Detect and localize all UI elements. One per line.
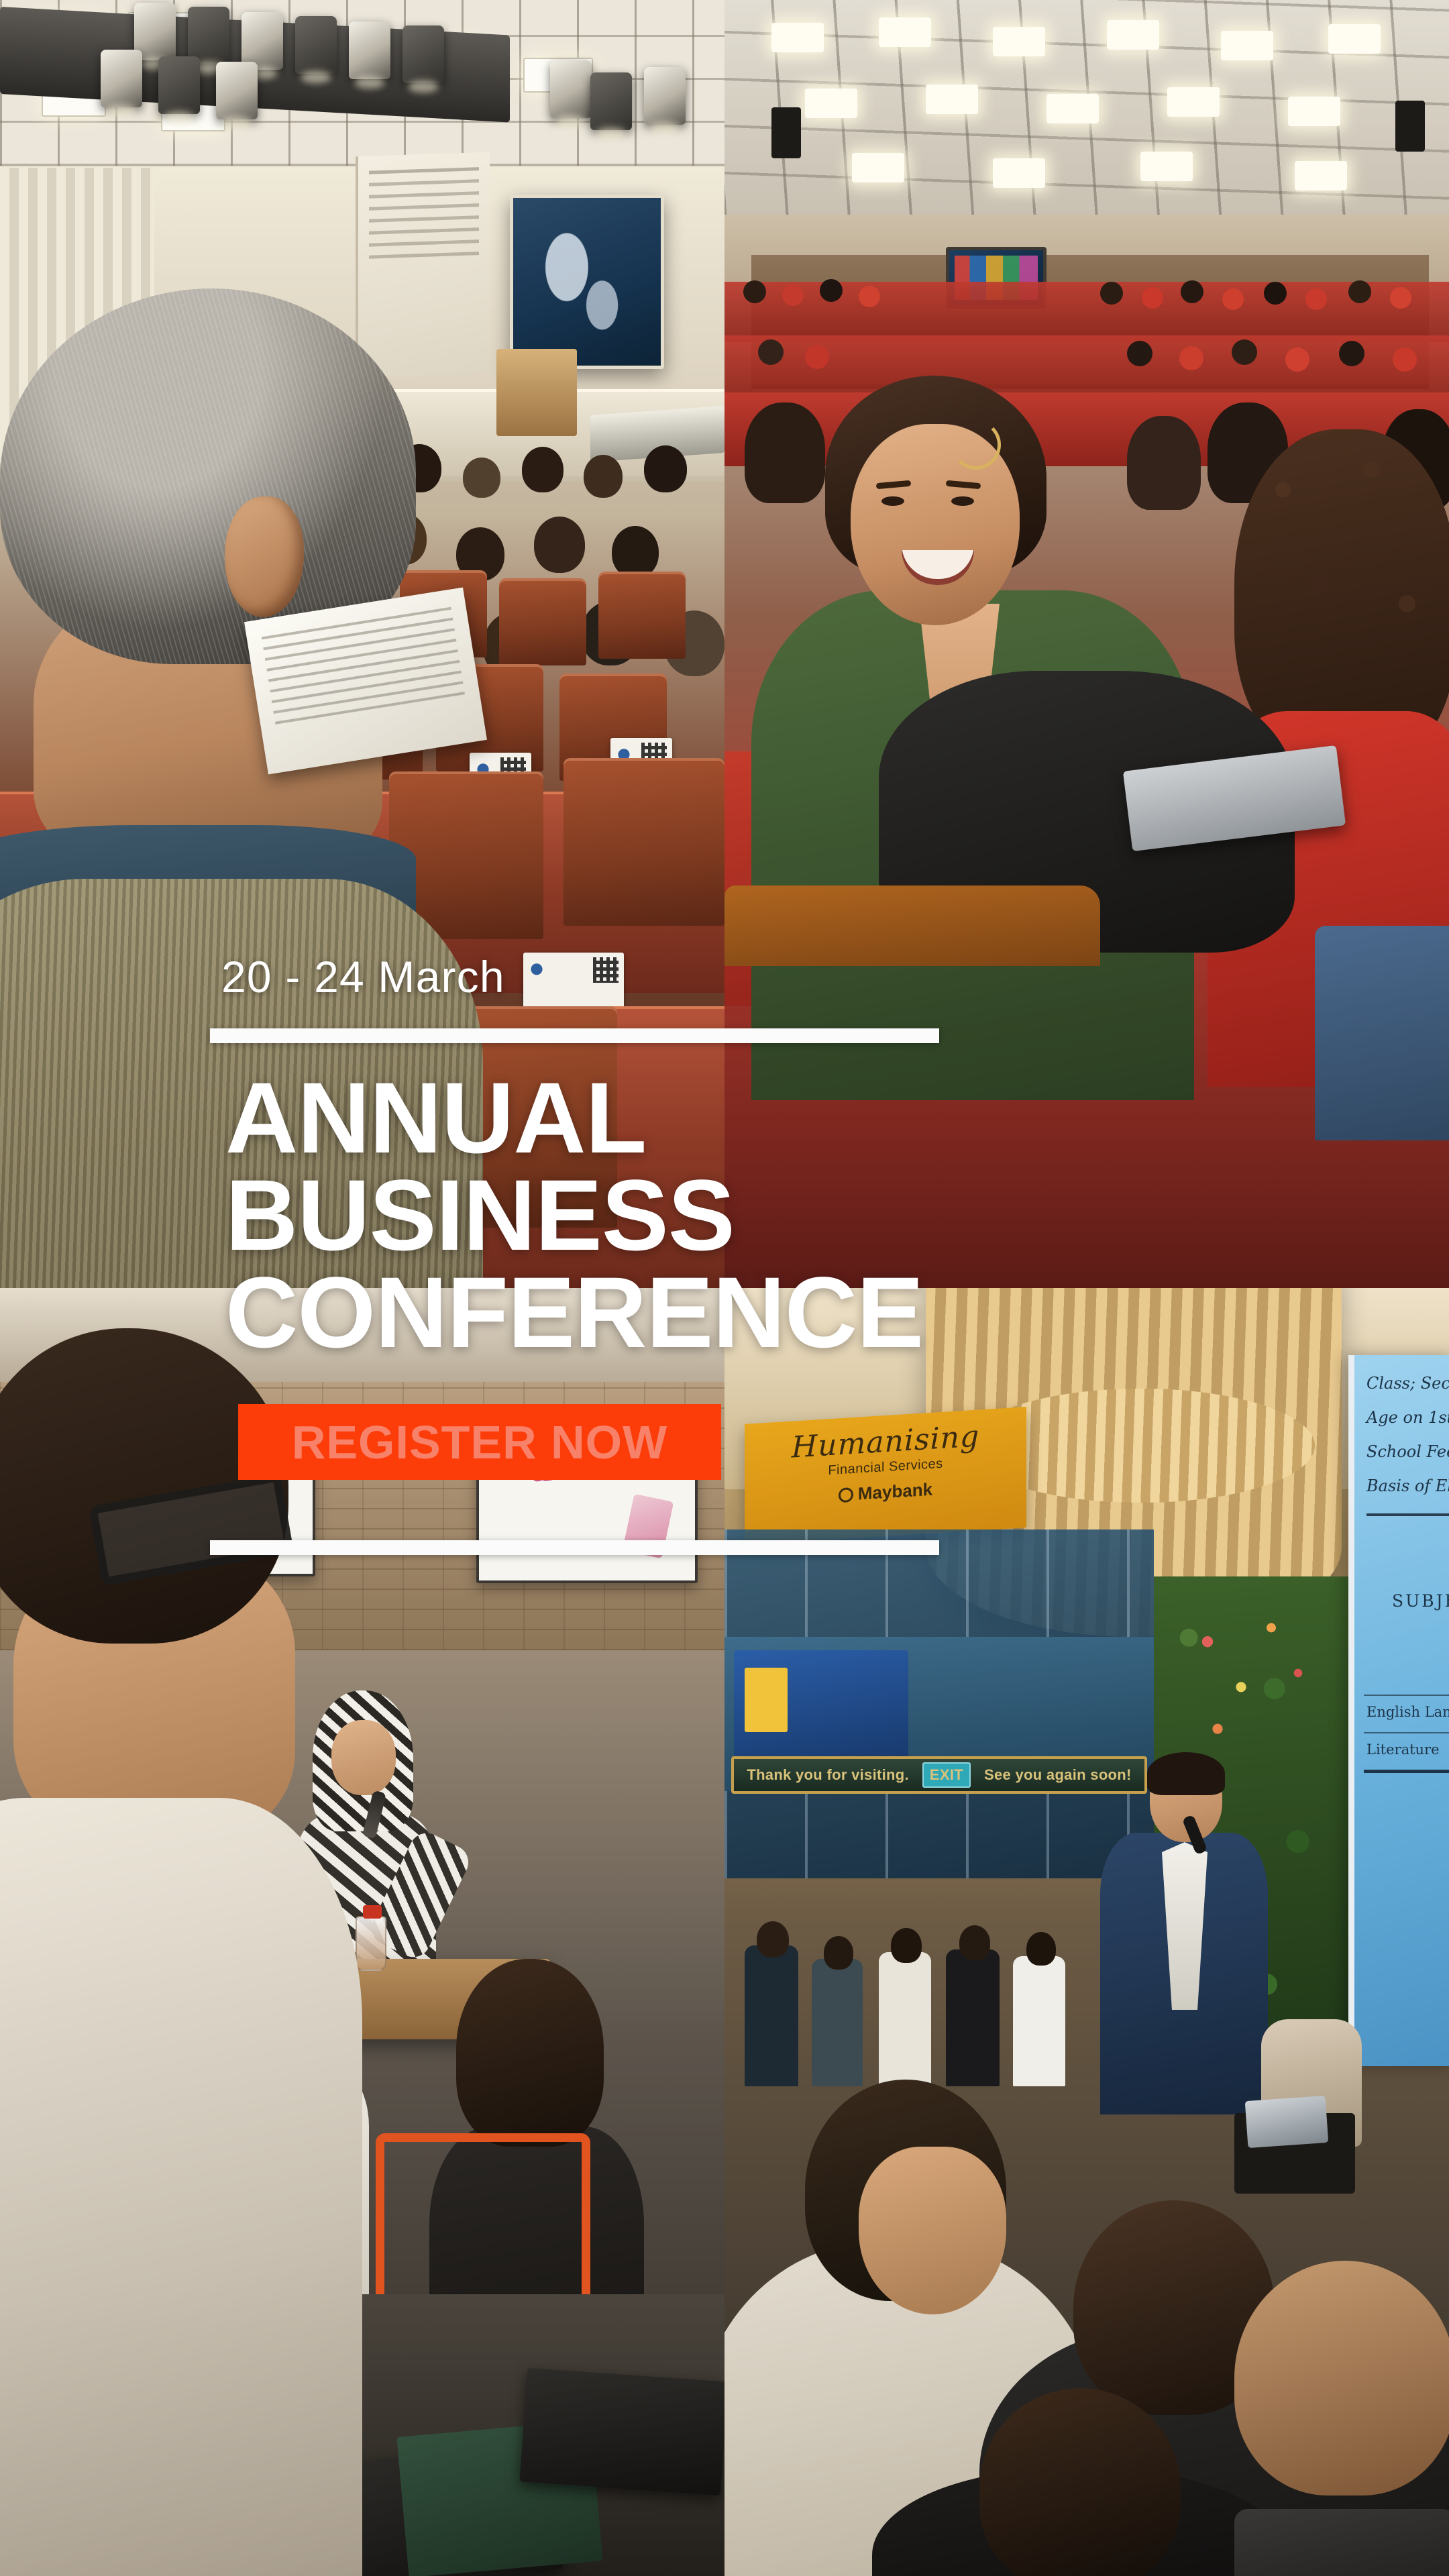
slide-row: Class; Sec. (1366, 1374, 1449, 1393)
panel-mall-talk-session: Humanising Financial Services Maybank Th… (724, 1288, 1449, 2576)
stage-screen (510, 195, 664, 369)
exit-banner: Thank you for visiting. EXIT See you aga… (731, 1756, 1147, 1794)
slide-row: Age on 1st (1366, 1408, 1449, 1427)
chair (376, 2133, 590, 2308)
exit-sign: EXIT (922, 1762, 971, 1788)
conference-poster: اللغة (0, 0, 1449, 2576)
foreground-audience (724, 2039, 1449, 2576)
slide-row: School Fees (1366, 1442, 1449, 1461)
foreground-attendee (0, 1328, 362, 2576)
maybank-logo-icon (839, 1487, 853, 1503)
foreground-attendee (0, 288, 470, 1288)
slide-subject: English Languag (1366, 1704, 1449, 1720)
presentation-slide: Class; Sec. Age on 1st School Fees Basis… (1348, 1355, 1449, 2066)
slide-subject: Literature (1366, 1741, 1440, 1758)
register-now-label: REGISTER NOW (292, 1415, 667, 1469)
seat-qr-card (523, 953, 624, 1009)
panel-classroom-presentation: اللغة (0, 1288, 724, 2576)
slide-row: Basis of Eli (1366, 1477, 1449, 1495)
panel-lecture-hall-audience (0, 0, 724, 1288)
maybank-awning: Humanising Financial Services Maybank (745, 1407, 1026, 1545)
photo-collage: اللغة (0, 0, 1449, 2576)
register-now-button[interactable]: REGISTER NOW (238, 1404, 721, 1480)
exit-banner-left: Thank you for visiting. (747, 1766, 909, 1784)
panel-auditorium-applause (724, 0, 1449, 1288)
slide-section-heading: SUBJEC (1392, 1591, 1449, 1611)
